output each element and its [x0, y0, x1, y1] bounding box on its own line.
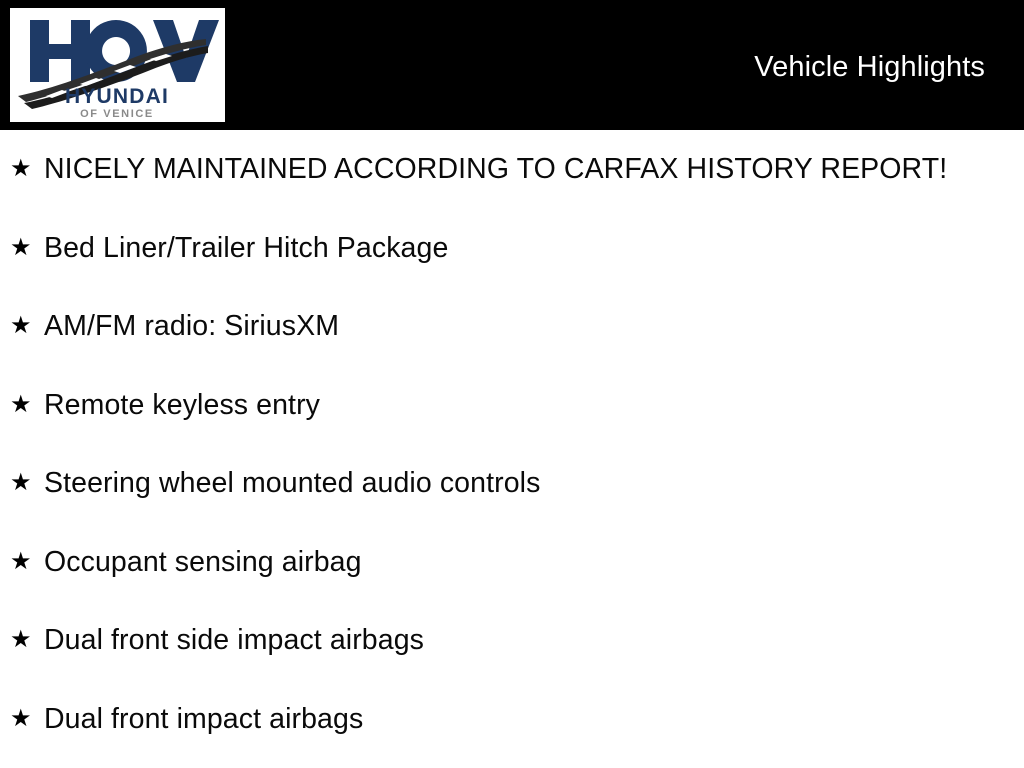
list-item-label: Bed Liner/Trailer Hitch Package [44, 231, 1024, 265]
dealer-logo[interactable]: HYUNDAI OF VENICE [10, 8, 225, 122]
list-item-label: AM/FM radio: SiriusXM [44, 309, 1024, 343]
list-item: ★ Dual front impact airbags [0, 680, 1024, 759]
svg-text:HYUNDAI: HYUNDAI [65, 85, 169, 108]
list-item-label: Dual front side impact airbags [44, 623, 1024, 657]
list-item-label: Dual front impact airbags [44, 702, 1024, 736]
list-item-label: Remote keyless entry [44, 388, 1024, 422]
star-bullet-icon: ★ [10, 393, 44, 417]
list-item: ★ Remote keyless entry [0, 366, 1024, 445]
list-item: ★ Bed Liner/Trailer Hitch Package [0, 209, 1024, 288]
list-item: ★ Dual front side impact airbags [0, 601, 1024, 680]
list-item-label: Steering wheel mounted audio controls [44, 466, 1024, 500]
star-bullet-icon: ★ [10, 236, 44, 260]
svg-text:OF VENICE: OF VENICE [80, 108, 154, 120]
page-header: HYUNDAI OF VENICE Vehicle Highlights [0, 0, 1024, 130]
page-title: Vehicle Highlights [754, 51, 985, 84]
list-item: ★ AM/FM radio: SiriusXM [0, 287, 1024, 366]
hov-hyundai-of-venice-logo-icon: HYUNDAI OF VENICE [10, 8, 225, 122]
list-item-label: NICELY MAINTAINED ACCORDING TO CARFAX HI… [44, 152, 1024, 186]
vehicle-highlights-list: ★ NICELY MAINTAINED ACCORDING TO CARFAX … [0, 130, 1024, 758]
star-bullet-icon: ★ [10, 707, 44, 731]
star-bullet-icon: ★ [10, 314, 44, 338]
star-bullet-icon: ★ [10, 471, 44, 495]
list-item: ★ Occupant sensing airbag [0, 523, 1024, 602]
list-item: ★ Steering wheel mounted audio controls [0, 444, 1024, 523]
list-item-label: Occupant sensing airbag [44, 545, 1024, 579]
list-item: ★ NICELY MAINTAINED ACCORDING TO CARFAX … [0, 130, 1024, 209]
star-bullet-icon: ★ [10, 550, 44, 574]
star-bullet-icon: ★ [10, 157, 44, 181]
star-bullet-icon: ★ [10, 628, 44, 652]
